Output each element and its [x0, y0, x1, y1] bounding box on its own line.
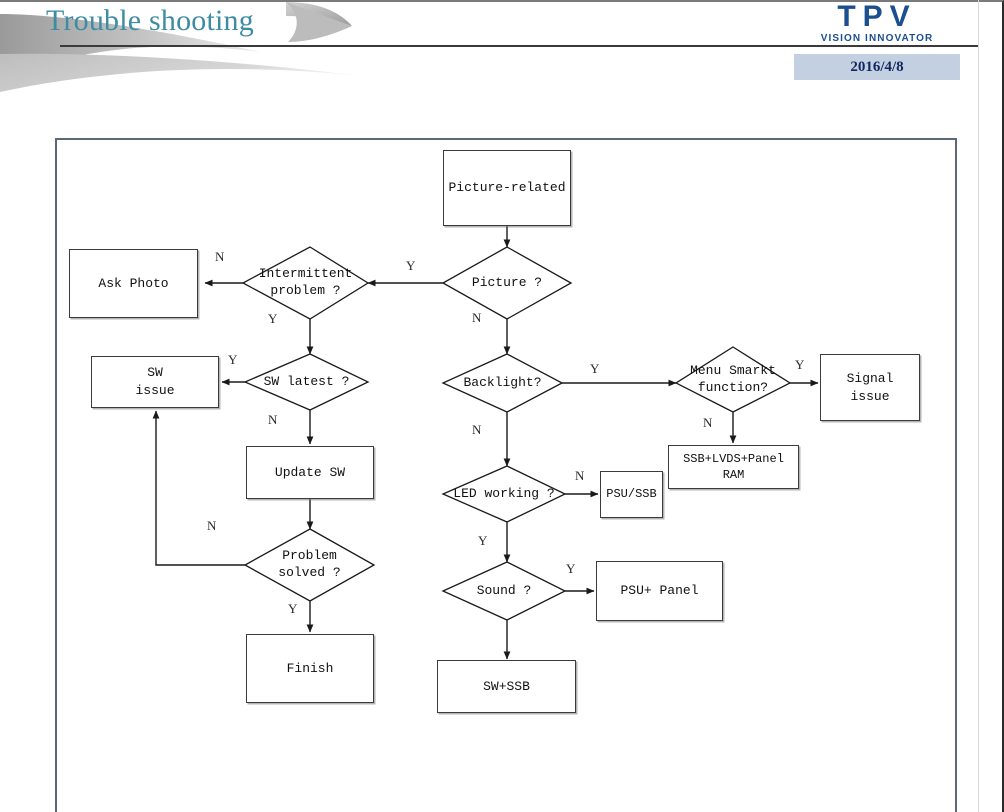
node-menu-smarkt-question[interactable]: Menu Smarkt function? — [676, 347, 790, 412]
node-picture-related[interactable]: Picture-related — [443, 150, 571, 226]
edge-label-problem-solved-no: N — [207, 518, 216, 534]
edge-label-picture-yes: Y — [406, 258, 415, 274]
node-signal-issue-label: Signal issue — [847, 370, 894, 405]
node-signal-issue[interactable]: Signal issue — [820, 354, 920, 421]
edge-label-intermittent-no: N — [215, 249, 224, 265]
node-problem-solved-question[interactable]: Problem solved ? — [245, 529, 374, 601]
node-psu-ssb[interactable]: PSU/SSB — [600, 471, 663, 518]
node-picture-question-label: Picture ? — [443, 247, 571, 319]
node-psu-panel[interactable]: PSU+ Panel — [596, 561, 723, 621]
node-menu-smarkt-question-label: Menu Smarkt function? — [676, 347, 790, 412]
edge-label-sw-latest-yes: Y — [228, 352, 237, 368]
edge-label-menu-no: N — [703, 415, 712, 431]
node-intermittent-question[interactable]: Intermittent problem ? — [243, 247, 368, 319]
node-finish[interactable]: Finish — [246, 634, 374, 703]
node-sw-issue[interactable]: SW issue — [91, 356, 219, 408]
node-ssb-lvds-panel-ram[interactable]: SSB+LVDS+Panel RAM — [668, 445, 799, 489]
edge-label-menu-yes: Y — [795, 357, 804, 373]
node-sw-issue-label: SW issue — [135, 364, 174, 399]
node-ask-photo-label: Ask Photo — [98, 275, 168, 293]
node-intermittent-question-label: Intermittent problem ? — [243, 247, 368, 319]
node-sw-ssb[interactable]: SW+SSB — [437, 660, 576, 713]
edge-label-intermittent-yes: Y — [268, 311, 277, 327]
node-picture-question[interactable]: Picture ? — [443, 247, 571, 319]
edge-label-led-yes: Y — [478, 533, 487, 549]
node-sw-latest-question-label: SW latest ? — [245, 354, 368, 410]
edge-label-sw-latest-no: N — [268, 412, 277, 428]
node-ask-photo[interactable]: Ask Photo — [69, 249, 198, 318]
edge-label-sound-yes: Y — [566, 561, 575, 577]
node-sound-question-label: Sound ? — [443, 562, 565, 620]
node-ssb-lvds-panel-ram-label: SSB+LVDS+Panel RAM — [683, 451, 784, 483]
node-backlight-question[interactable]: Backlight? — [443, 354, 562, 412]
node-sw-latest-question[interactable]: SW latest ? — [245, 354, 368, 410]
edge-label-picture-no: N — [472, 310, 481, 326]
edge-label-backlight-no: N — [472, 422, 481, 438]
edge-label-led-no: N — [575, 468, 584, 484]
node-update-sw[interactable]: Update SW — [246, 446, 374, 499]
node-update-sw-label: Update SW — [275, 464, 345, 482]
node-psu-panel-label: PSU+ Panel — [620, 582, 698, 600]
node-led-working-question-label: LED working ? — [443, 466, 565, 522]
node-backlight-question-label: Backlight? — [443, 354, 562, 412]
edge-label-problem-solved-yes: Y — [288, 601, 297, 617]
node-problem-solved-question-label: Problem solved ? — [245, 529, 374, 601]
node-sw-ssb-label: SW+SSB — [483, 678, 530, 696]
node-led-working-question[interactable]: LED working ? — [443, 466, 565, 522]
node-picture-related-label: Picture-related — [448, 179, 565, 197]
edge-label-backlight-yes: Y — [590, 361, 599, 377]
node-psu-ssb-label: PSU/SSB — [606, 486, 656, 502]
troubleshooting-flowchart: Picture-related Ask Photo SW issue Updat… — [0, 0, 1004, 812]
node-sound-question[interactable]: Sound ? — [443, 562, 565, 620]
node-finish-label: Finish — [287, 660, 334, 678]
